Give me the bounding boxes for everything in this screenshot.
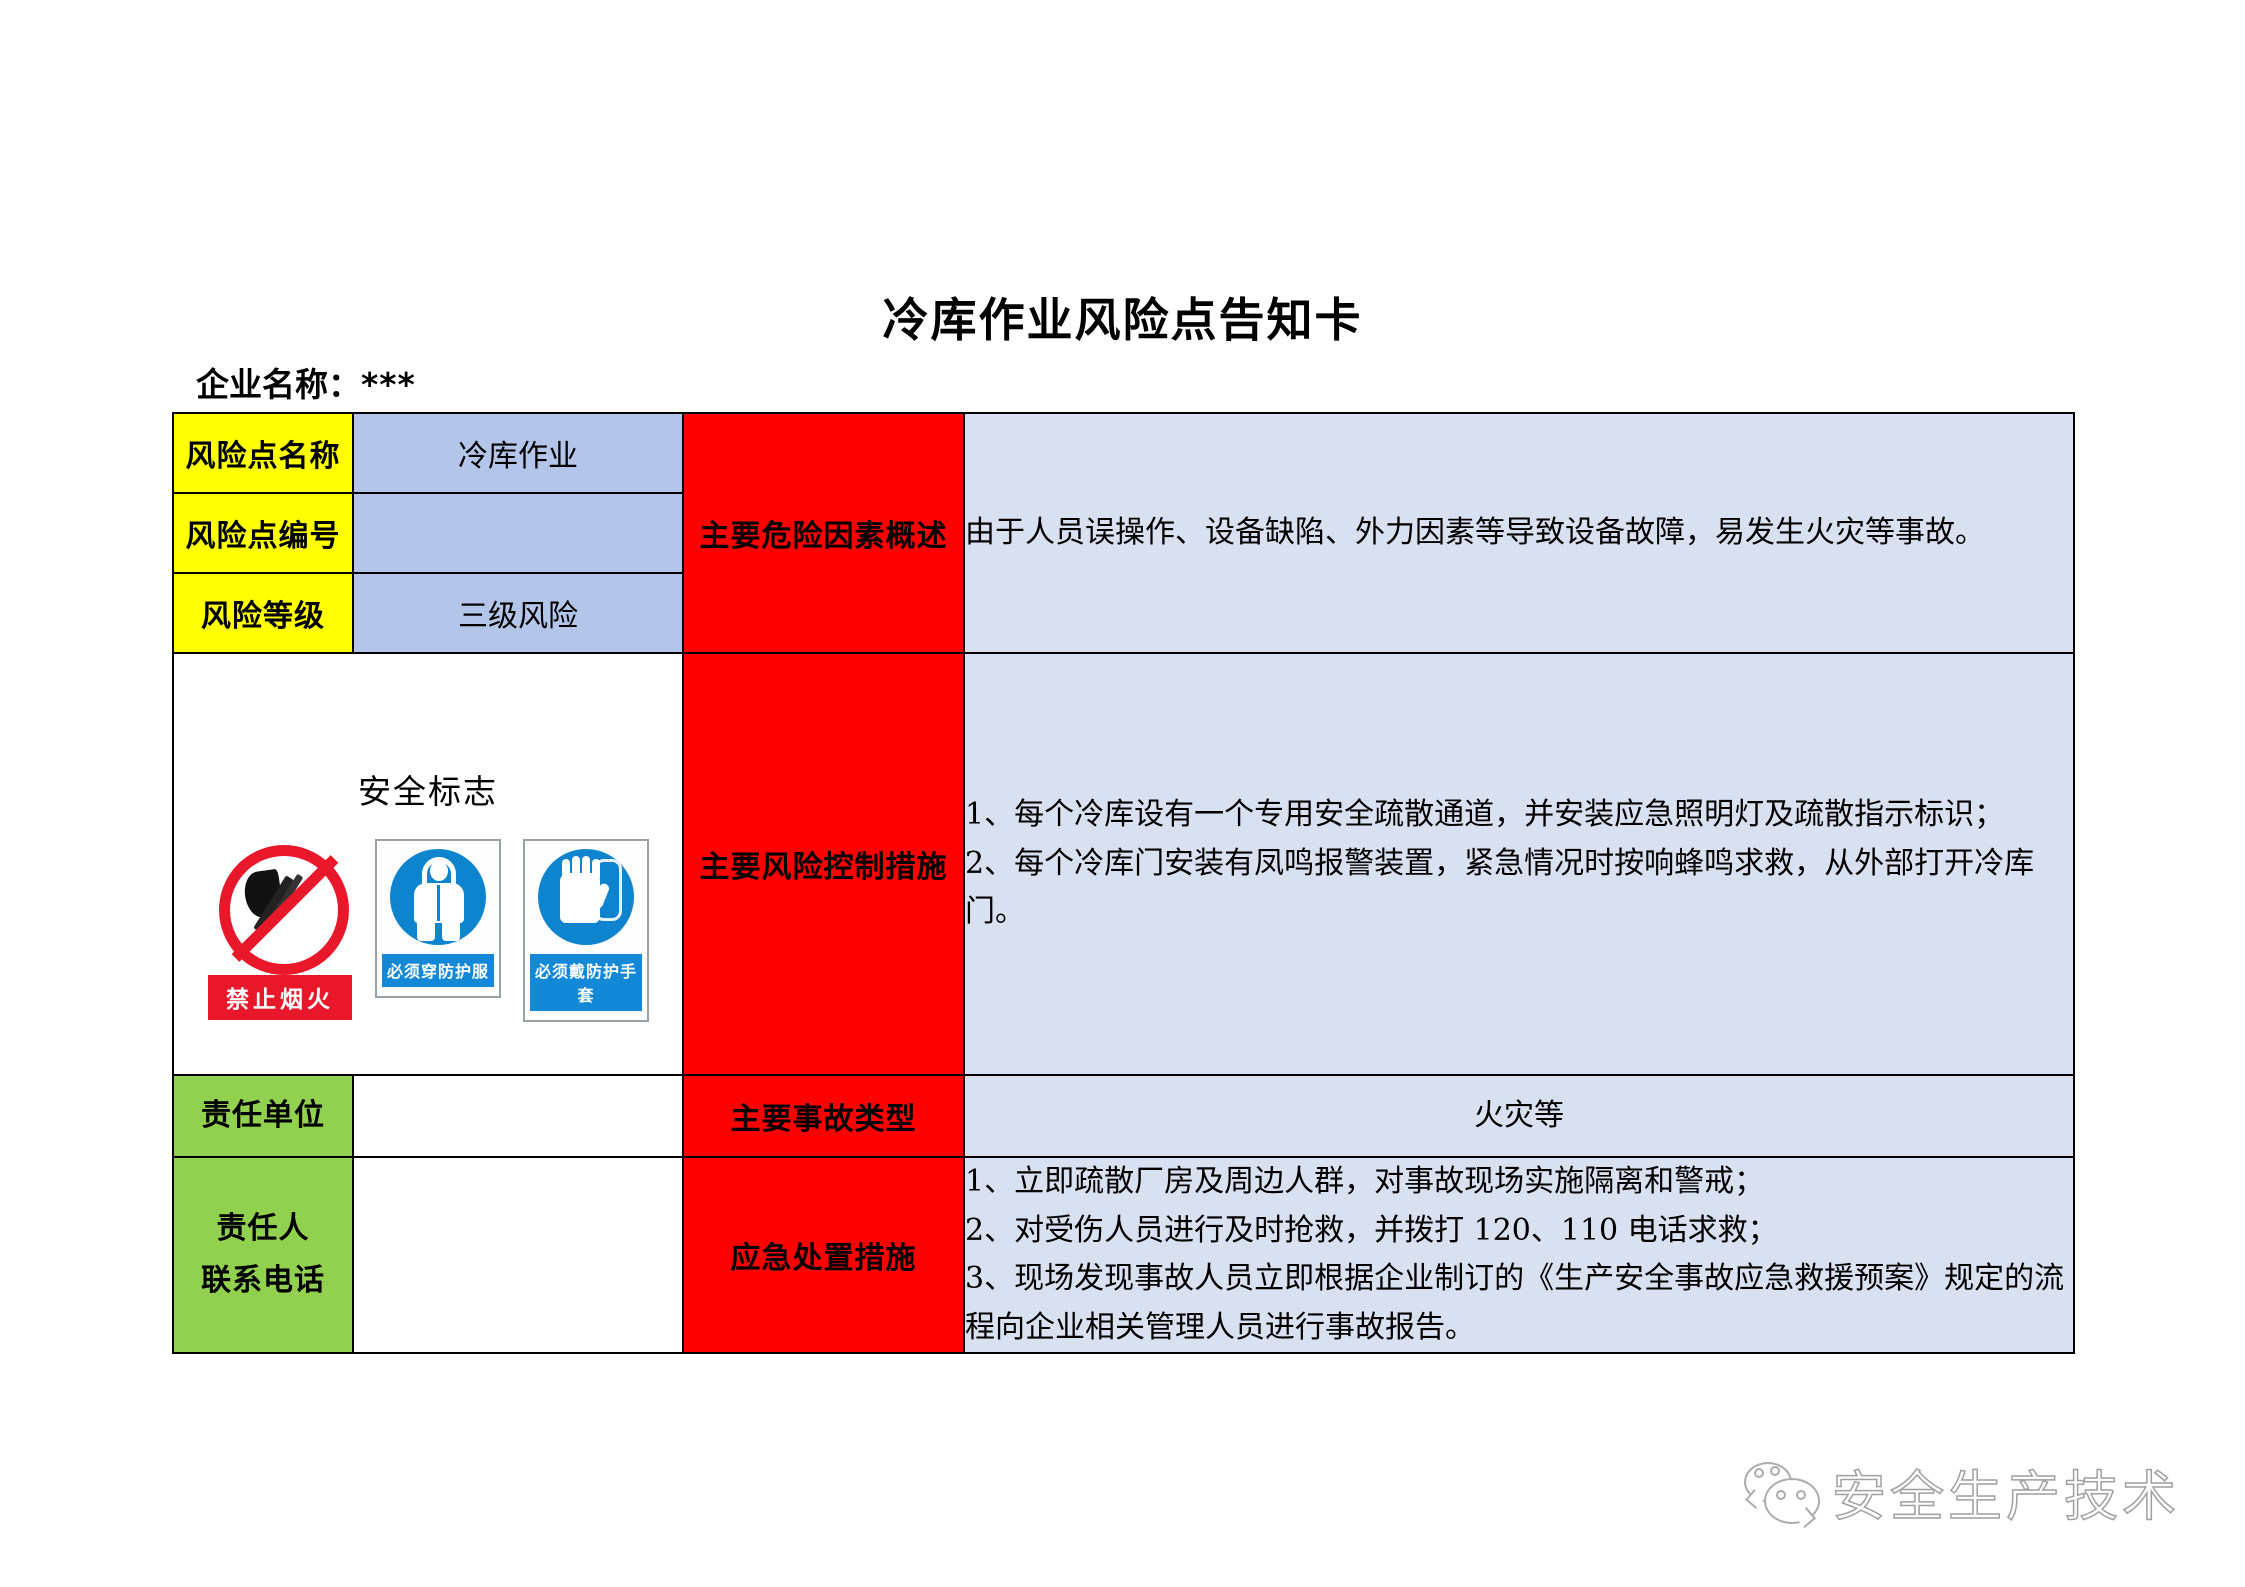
page-title: 冷库作业风险点告知卡 xyxy=(0,284,2245,350)
company-name-line: 企业名称：*** xyxy=(196,358,416,406)
hazard-summary-text: 由于人员误操作、设备缺陷、外力因素等导致设备故障，易发生火灾等事故。 xyxy=(964,413,2074,653)
responsible-person-label: 责任人 xyxy=(174,1203,352,1256)
protective-gloves-icon xyxy=(538,849,634,945)
company-name-label: 企业名称： xyxy=(196,365,361,404)
control-measures-line-2: 2、每个冷库门安装有凤鸣报警装置，紧急情况时按响蜂鸣求救，从外部打开冷库门。 xyxy=(965,840,2073,937)
leg-right-shape xyxy=(442,919,460,941)
watermark: 安全生产技术 xyxy=(1744,1452,2180,1531)
table-row: 责任单位 主要事故类型 火灾等 xyxy=(173,1075,2074,1157)
protective-clothing-sign: 必须穿防护服 xyxy=(375,839,501,998)
protective-gloves-sign-caption: 必须戴防护手套 xyxy=(530,954,642,1011)
control-measures-text: 1、每个冷库设有一个专用安全疏散通道，并安装应急照明灯及疏散指示标识； 2、每个… xyxy=(964,653,2074,1075)
leg-left-shape xyxy=(417,919,435,941)
hazard-summary-label: 主要危险因素概述 xyxy=(683,413,964,653)
no-fire-sign: 禁止烟火 xyxy=(207,839,353,1020)
protective-gloves-sign: 必须戴防护手套 xyxy=(523,839,649,1022)
responsible-person-labels: 责任人 联系电话 xyxy=(173,1157,353,1353)
head-shape xyxy=(430,861,448,881)
bubble-dot-shape xyxy=(1776,1490,1786,1500)
wechat-icon xyxy=(1744,1462,1818,1522)
emergency-line-2: 2、对受伤人员进行及时抢救，并拨打 120、110 电话求救； xyxy=(965,1207,2073,1256)
accident-type-value: 火灾等 xyxy=(964,1075,2074,1157)
risk-code-label: 风险点编号 xyxy=(173,493,353,573)
risk-name-value[interactable]: 冷库作业 xyxy=(353,413,683,493)
responsible-person-value[interactable] xyxy=(353,1157,683,1353)
control-measures-label: 主要风险控制措施 xyxy=(683,653,964,1075)
contact-phone-label: 联系电话 xyxy=(174,1255,352,1308)
safety-sign-label: 安全标志 xyxy=(174,765,682,813)
safety-signs-cell: 安全标志 禁止烟火 xyxy=(173,653,683,1075)
responsible-unit-value[interactable] xyxy=(353,1075,683,1157)
table-row: 风险点名称 冷库作业 主要危险因素概述 由于人员误操作、设备缺陷、外力因素等导致… xyxy=(173,413,2074,493)
bubble-dot-shape xyxy=(1754,1468,1764,1478)
emergency-measures-label: 应急处置措施 xyxy=(683,1157,964,1353)
risk-level-label: 风险等级 xyxy=(173,573,353,653)
risk-name-label: 风险点名称 xyxy=(173,413,353,493)
table-row: 安全标志 禁止烟火 xyxy=(173,653,2074,1075)
glove-palm-shape xyxy=(560,873,600,923)
emergency-line-3: 3、现场发现事故人员立即根据企业制订的《生产安全事故应急救援预案》规定的流程向企… xyxy=(965,1255,2073,1352)
protective-clothing-icon xyxy=(390,849,486,945)
emergency-measures-text: 1、立即疏散厂房及周边人群，对事故现场实施隔离和警戒； 2、对受伤人员进行及时抢… xyxy=(964,1157,2074,1353)
bubble-dot-shape xyxy=(1770,1466,1780,1476)
company-name-value: *** xyxy=(361,365,416,404)
table-row: 责任人 联系电话 应急处置措施 1、立即疏散厂房及周边人群，对事故现场实施隔离和… xyxy=(173,1157,2074,1353)
risk-notification-table: 风险点名称 冷库作业 主要危险因素概述 由于人员误操作、设备缺陷、外力因素等导致… xyxy=(172,412,2075,1354)
risk-level-value[interactable]: 三级风险 xyxy=(353,573,683,653)
watermark-text: 安全生产技术 xyxy=(1832,1452,2180,1531)
accident-type-label: 主要事故类型 xyxy=(683,1075,964,1157)
emergency-line-1: 1、立即疏散厂房及周边人群，对事故现场实施隔离和警戒； xyxy=(965,1158,2073,1207)
protective-clothing-sign-caption: 必须穿防护服 xyxy=(382,954,494,987)
suit-seam-shape xyxy=(437,885,440,921)
bubble-dot-shape xyxy=(1796,1490,1806,1500)
risk-code-value[interactable] xyxy=(353,493,683,573)
no-fire-sign-caption: 禁止烟火 xyxy=(208,975,352,1020)
responsible-unit-label: 责任单位 xyxy=(173,1075,353,1157)
control-measures-line-1: 1、每个冷库设有一个专用安全疏散通道，并安装应急照明灯及疏散指示标识； xyxy=(965,791,2073,840)
no-fire-icon xyxy=(217,843,343,969)
safety-signs-row: 禁止烟火 必须穿防护服 xyxy=(174,839,682,1032)
